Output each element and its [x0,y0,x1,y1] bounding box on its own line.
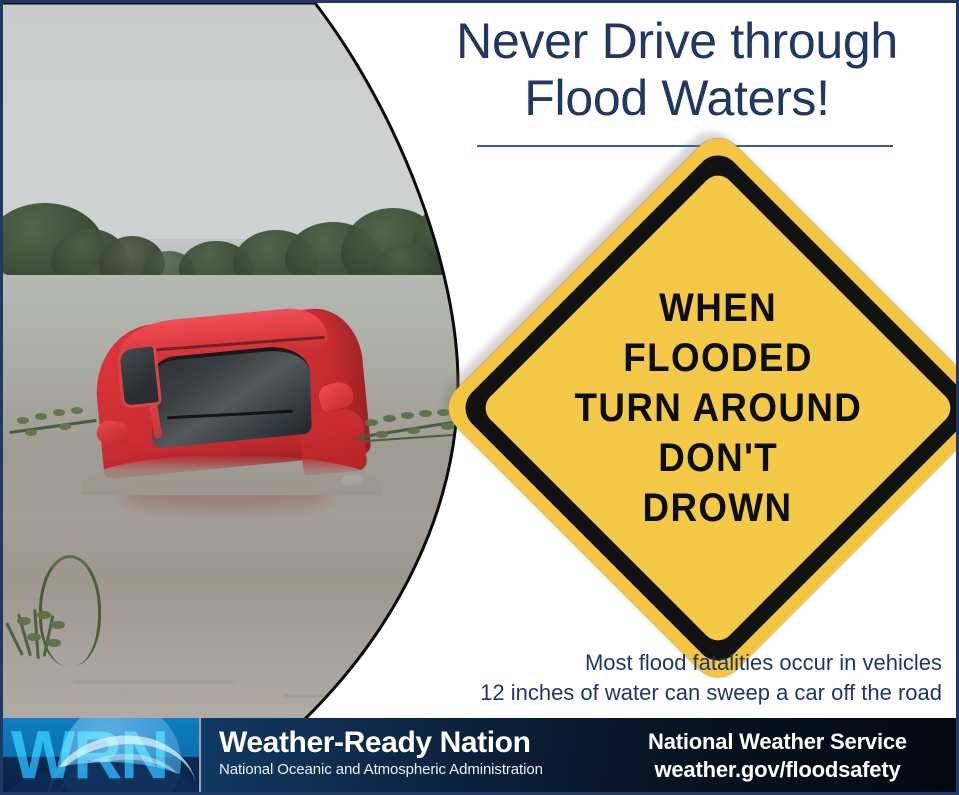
turn-around-dont-drown-icon: WHEN FLOODED TURN AROUND DON'T DROWN [503,193,933,623]
sign-line-4: DON'T [658,436,778,480]
car-side-window [116,343,162,409]
footer-bar: WRN Weather-Ready Nation National Oceani… [3,718,956,792]
caption-line-2: 12 inches of water can sweep a car off t… [342,678,942,708]
nws-block: National Weather Service weather.gov/flo… [599,718,956,792]
flood-safety-poster: Never Drive through Flood Waters! WHEN F… [0,0,959,795]
wrn-brand-subtitle: National Oceanic and Atmospheric Adminis… [219,760,599,780]
title-line-1: Never Drive through [401,13,953,70]
sign-line-1: WHEN [659,286,777,330]
nws-website[interactable]: weather.gov/floodsafety [599,756,956,784]
wrn-logo: WRN [3,718,199,792]
sign-line-2: FLOODED [623,336,813,380]
caption-block: Most flood fatalities occur in vehicles … [342,648,942,708]
title-line-2: Flood Waters! [401,70,953,127]
sign-line-5: DROWN [643,486,793,530]
caption-line-1: Most flood fatalities occur in vehicles [342,648,942,678]
vegetation-branch [9,395,101,451]
wrn-logo-letters: WRN [11,720,199,790]
sign-line-3: TURN AROUND [574,386,862,430]
car-windshield [150,343,312,449]
weed-clump [3,603,79,665]
water-ripple [73,681,233,683]
submerged-red-car [91,299,371,489]
wrn-brand-title: Weather-Ready Nation [219,726,599,760]
sign-text-block: WHEN FLOODED TURN AROUND DON'T DROWN [503,193,933,623]
nws-agency-name: National Weather Service [599,728,956,756]
wrn-brand-block: Weather-Ready Nation National Oceanic an… [199,718,599,792]
page-title: Never Drive through Flood Waters! [401,13,953,127]
